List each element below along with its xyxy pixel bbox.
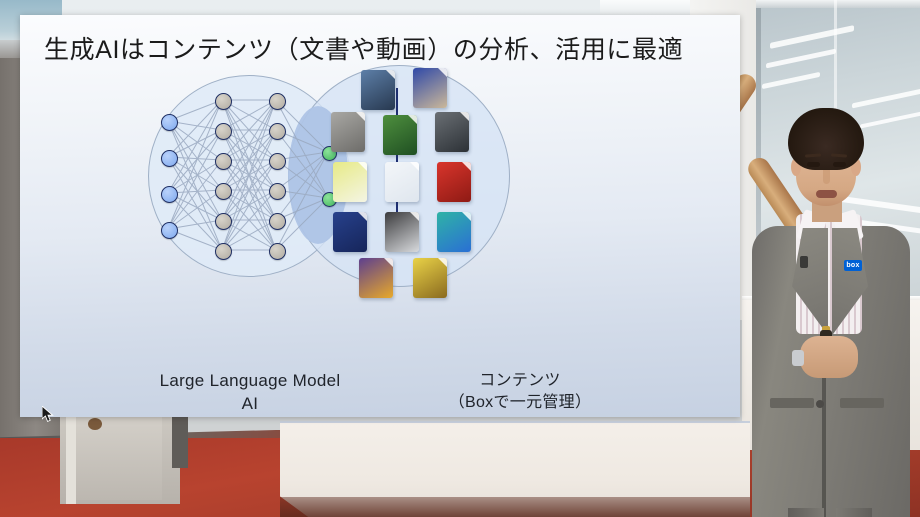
doc-statue-photo [331,112,365,152]
podium-shadow [280,497,750,517]
doc-spreadsheet-white [385,162,419,202]
llm-caption-line1: Large Language Model [140,370,360,393]
llm-caption: Large Language Model AI [140,370,360,416]
presenter-eye-left [807,162,820,167]
doc-red-folder [437,162,471,202]
document-icon-cluster [20,60,740,417]
door-object [88,418,102,430]
presenter-mouth [816,190,837,198]
presenter: box [744,108,920,517]
presenter-hands [800,336,858,378]
doc-flowers-purple [359,258,393,298]
ceiling-light [770,25,854,49]
content-caption-line2: （Boxで一元管理） [390,392,650,414]
presenter-hair [788,108,864,170]
presenter-wristwatch [792,350,804,366]
presenter-leg-left [788,508,824,517]
ceiling-light [766,49,836,69]
doc-green-tools [383,115,417,155]
content-caption: コンテンツ （Boxで一元管理） [390,370,650,413]
glass-frame [756,0,920,8]
llm-caption-line2: AI [140,393,360,416]
doc-chart-teal [437,212,471,252]
presentation-slide: 生成AIはコンテンツ（文書や動画）の分析、活用に最適 Large Languag… [20,15,740,417]
presenter-pocket-left [770,398,814,408]
presenter-nose [823,170,830,184]
door-frame [66,404,76,504]
presenter-eye-right [833,162,846,167]
ceiling-light [852,89,920,109]
presenter-pocket-right [840,398,884,408]
doc-stamp-yellow [413,258,447,298]
doc-navy-report [333,212,367,252]
lapel-microphone-icon [800,256,808,268]
doc-train-photo [361,70,395,110]
mouse-pointer-icon [42,406,54,424]
presenter-jacket-button [816,400,824,408]
doc-resume-yellow [333,162,367,202]
box-logo-badge: box [844,260,862,271]
doc-office-photo [435,112,469,152]
doc-capitol-photo [413,68,447,108]
venn-diagram: Large Language Model AI コンテンツ （Boxで一元管理） [20,60,740,417]
content-caption-line1: コンテンツ [390,370,650,392]
presenter-leg-right [836,508,872,517]
doc-mobile-dark [385,212,419,252]
screen: box 生成AIはコンテンツ（文書や動画）の分析、活用に最適 [0,0,920,517]
